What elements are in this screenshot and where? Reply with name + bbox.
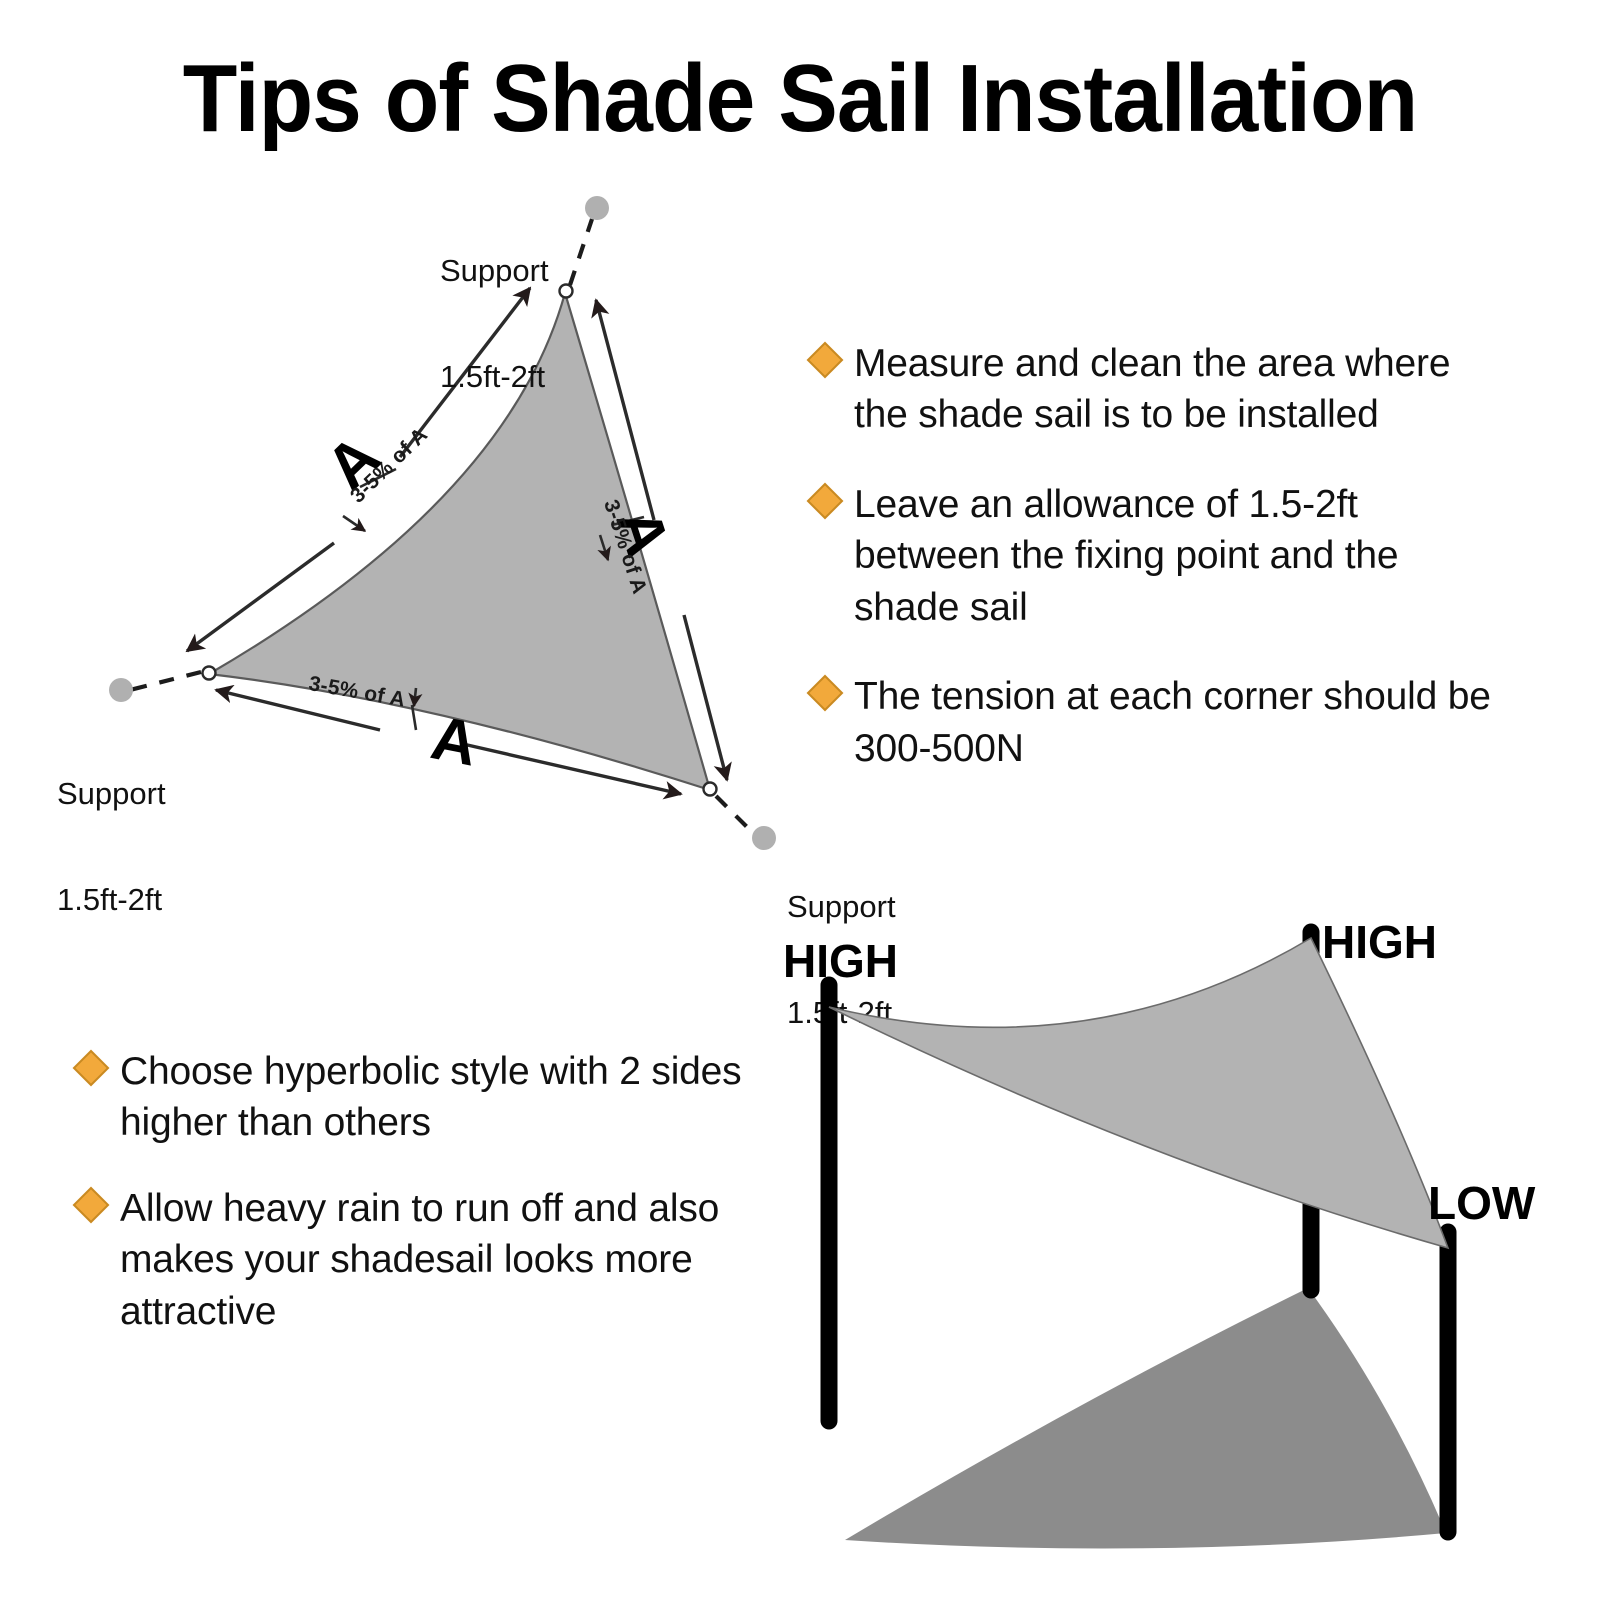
curvature-tick-bottom-edge [412,688,416,730]
pole-label-low: LOW [1428,1176,1535,1230]
tip-text: The tension at each corner should be 300… [854,671,1512,774]
support-label-br-measure: 1.5ft-2ft [787,995,896,1030]
sail-ground-shadow [845,1288,1446,1549]
side-label-a-bottom: A [426,702,484,780]
support-poles [829,932,1448,1532]
tip-text: Allow heavy rain to run off and also mak… [120,1183,768,1337]
tip-text: Leave an allowance of 1.5-2ft between th… [854,479,1512,633]
pole-label-high-left: HIGH [783,934,898,988]
tip-item: Leave an allowance of 1.5-2ft between th… [812,479,1512,633]
tip-item: The tension at each corner should be 300… [812,671,1512,774]
tip-item: Measure and clean the area where the sha… [812,338,1512,441]
tip-item: Choose hyperbolic style with 2 sides hig… [78,1046,768,1149]
tip-item: Allow heavy rain to run off and also mak… [78,1183,768,1337]
diamond-bullet-icon [73,1187,110,1224]
pole-label-high-right: HIGH [1322,915,1437,969]
tips-list-right: Measure and clean the area where the sha… [812,338,1512,812]
support-label-left-title: Support [57,776,166,811]
support-label-left: Support 1.5ft-2ft [57,705,166,988]
diamond-bullet-icon [807,342,844,379]
page-title: Tips of Shade Sail Installation [56,44,1544,154]
tips-list-left: Choose hyperbolic style with 2 sides hig… [78,1046,768,1371]
diamond-bullet-icon [73,1050,110,1087]
infographic-page: Tips of Shade Sail Installation [0,0,1600,1600]
curve-label-bottom: 3-5% of A [307,672,407,713]
diamond-bullet-icon [807,675,844,712]
support-label-left-measure: 1.5ft-2ft [57,882,166,917]
hyperbolic-sail-shape [829,938,1448,1248]
support-label-br-title: Support [787,889,896,924]
tip-text: Choose hyperbolic style with 2 sides hig… [120,1046,768,1149]
tip-text: Measure and clean the area where the sha… [854,338,1512,441]
support-label-top-title: Support [440,253,549,288]
diamond-bullet-icon [807,483,844,520]
support-label-top: Support 1.5ft-2ft [440,182,549,465]
support-label-top-measure: 1.5ft-2ft [440,359,549,394]
